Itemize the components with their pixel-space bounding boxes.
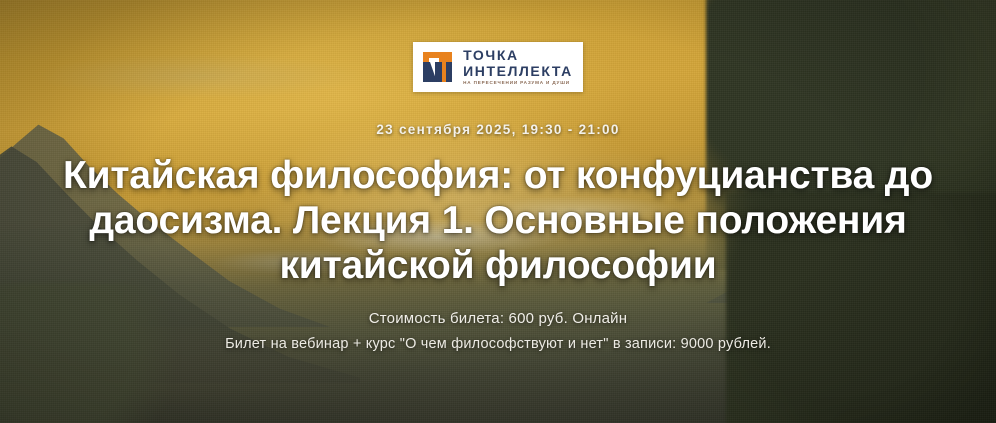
brand-tagline: НА ПЕРЕСЕЧЕНИИ РАЗУМА И ДУШИ (463, 81, 573, 86)
banner-content: ТОЧКА ИНТЕЛЛЕКТА НА ПЕРЕСЕЧЕНИИ РАЗУМА И… (0, 0, 996, 423)
event-title-line-3: китайской философии (48, 243, 948, 288)
brand-name-line-1: ТОЧКА (463, 48, 573, 62)
brand-name-line-2: ИНТЕЛЛЕКТА (463, 64, 573, 78)
brand-logo[interactable]: ТОЧКА ИНТЕЛЛЕКТА НА ПЕРЕСЕЧЕНИИ РАЗУМА И… (413, 42, 583, 92)
event-title-line-2: даосизма. Лекция 1. Основные положения (48, 198, 948, 243)
brand-logo-wordmark: ТОЧКА ИНТЕЛЛЕКТА НА ПЕРЕСЕЧЕНИИ РАЗУМА И… (463, 48, 573, 86)
ticket-price-main: Стоимость билета: 600 руб. Онлайн (369, 310, 627, 327)
event-title: Китайская философия: от конфуцианства до… (48, 153, 948, 289)
event-banner: ТОЧКА ИНТЕЛЛЕКТА НА ПЕРЕСЕЧЕНИИ РАЗУМА И… (0, 0, 996, 423)
it-monogram-icon (421, 50, 454, 84)
ticket-price-bundle: Билет на вебинар + курс "О чем философст… (225, 336, 771, 352)
event-datetime: 23 сентября 2025, 19:30 - 21:00 (376, 122, 619, 137)
event-title-line-1: Китайская философия: от конфуцианства до (48, 153, 948, 198)
